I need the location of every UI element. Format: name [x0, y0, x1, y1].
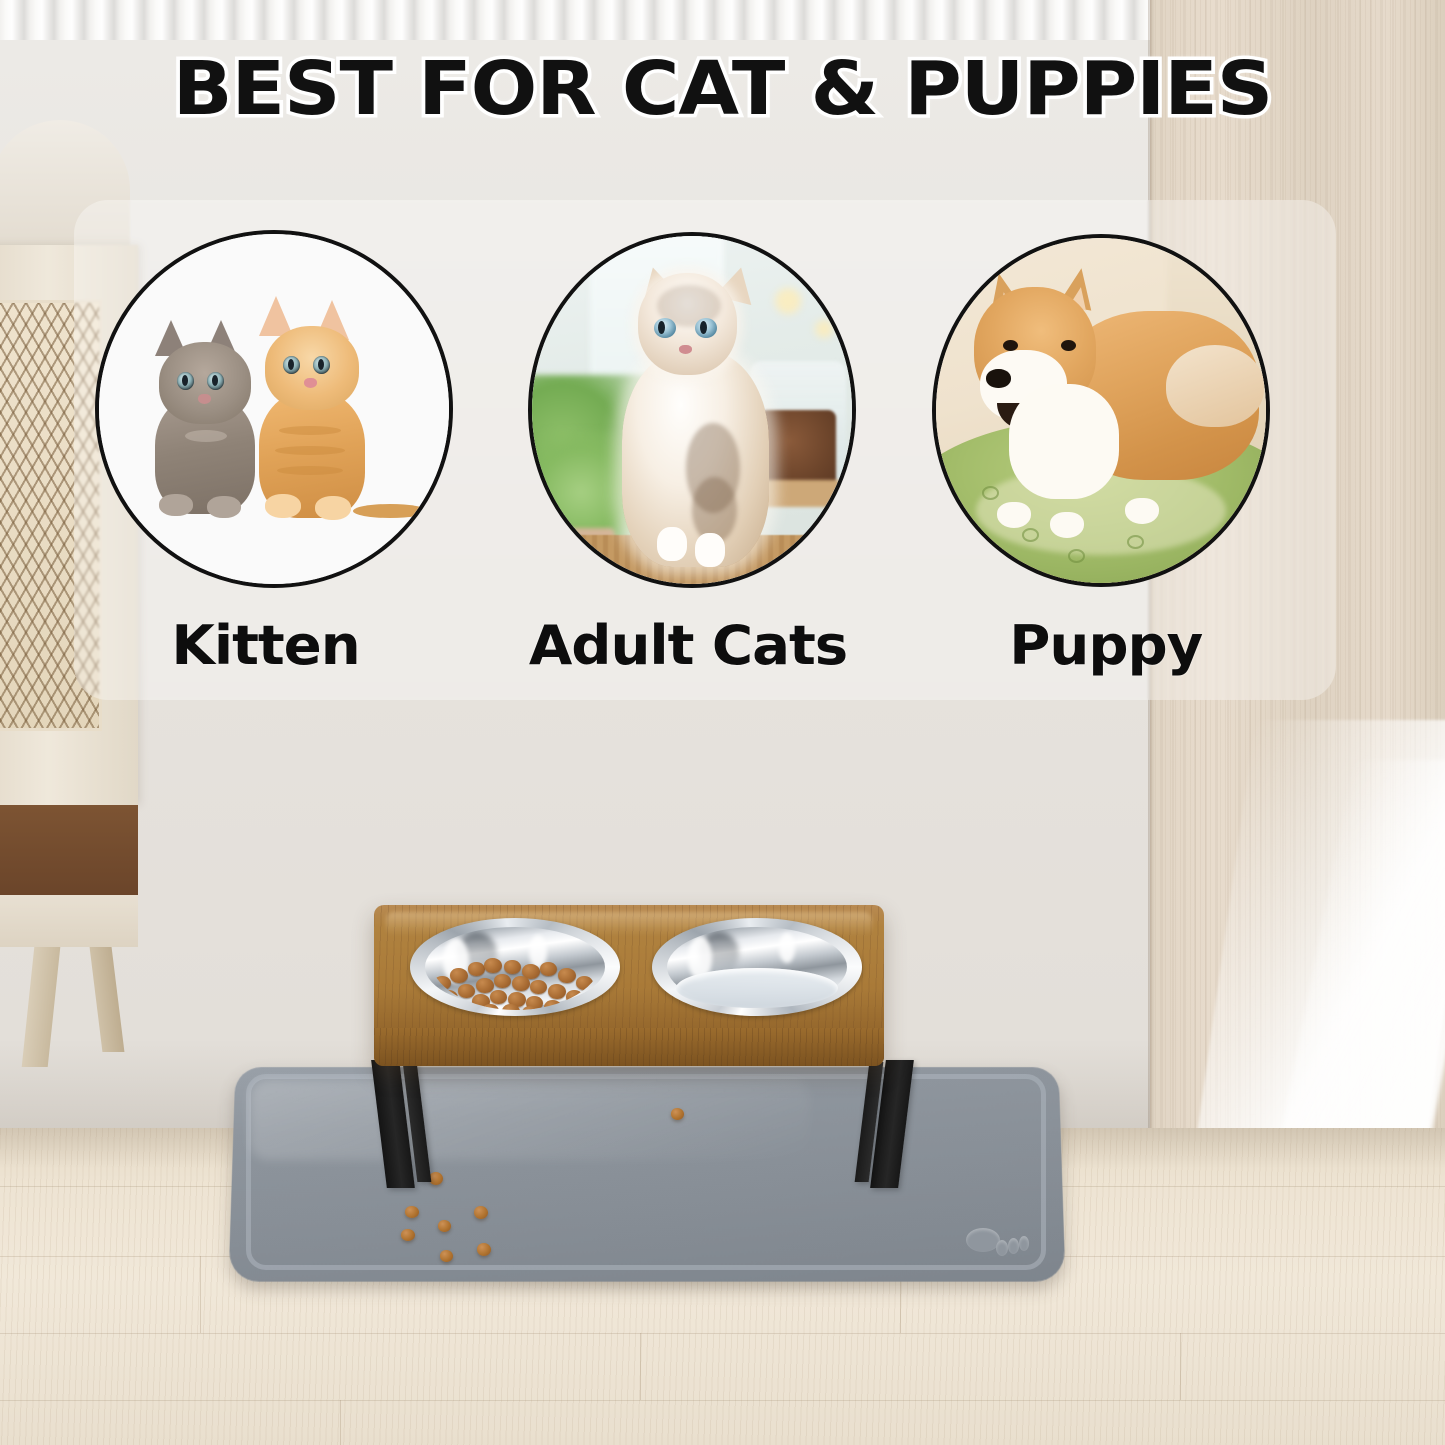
loose-kibble [440, 1250, 453, 1262]
water-in-bowl [676, 968, 838, 1008]
label-adult-cats: Adult Cats [529, 614, 847, 677]
wooden-stand-front-edge [374, 1028, 884, 1066]
loose-kibble [405, 1206, 419, 1218]
headline-text: BEST FOR CAT & PUPPIES [0, 52, 1445, 126]
product-marketing-image: BEST FOR CAT & PUPPIES [0, 0, 1445, 1445]
product-photo [0, 0, 1445, 1445]
mat-paw-spout-icon [966, 1222, 1028, 1258]
kibble-in-bowl [430, 958, 602, 1010]
mat-sheen [250, 1080, 810, 1160]
label-puppy: Puppy [1009, 614, 1202, 677]
loose-kibble [671, 1108, 684, 1120]
loose-kibble [401, 1229, 415, 1241]
loose-kibble [477, 1243, 491, 1256]
loose-kibble [429, 1172, 443, 1185]
loose-kibble [474, 1206, 488, 1219]
card-labels: Kitten Adult Cats Puppy [0, 614, 1445, 704]
loose-kibble [438, 1220, 451, 1232]
label-kitten: Kitten [171, 614, 359, 677]
